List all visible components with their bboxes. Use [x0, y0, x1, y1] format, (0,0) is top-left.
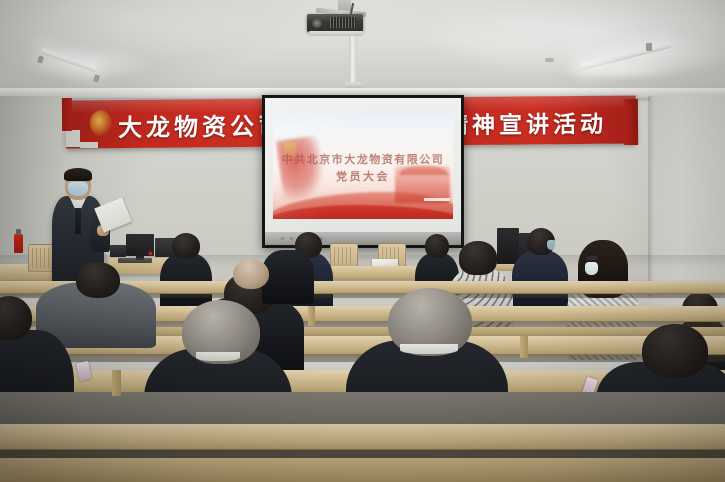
- chair-slats: [334, 247, 354, 265]
- keyboard: [118, 258, 152, 263]
- bench-divider: [520, 336, 528, 358]
- projection-screen-surface: 中共北京市大龙物资有限公司 党员大会: [265, 98, 461, 245]
- attendee-foreground-far-right-head: [642, 324, 708, 378]
- av-control-box: [110, 245, 126, 257]
- presenter-face-mask: [68, 182, 88, 196]
- attendee-foreground-center-collar: [196, 352, 240, 361]
- attendee-mid-left-head: [425, 234, 449, 258]
- status-led: [149, 252, 152, 255]
- fire-extinguisher: [14, 234, 23, 253]
- banner-notch-left: [66, 130, 80, 147]
- attendee-front-left-head: [76, 262, 120, 298]
- attendee-right-woman-glasses: [586, 256, 598, 260]
- screen-roller-pole: [349, 36, 357, 86]
- attendee-mid-right-head: [233, 259, 269, 289]
- attendee-foreground-left-phone: [76, 361, 91, 381]
- projector-vent: [330, 17, 356, 28]
- bench-divider: [308, 306, 315, 326]
- banner-fold-right: [624, 99, 638, 145]
- slide-title-line1: 中共北京市大龙物资有限公司: [273, 151, 453, 167]
- tube-cap-right: [646, 43, 652, 51]
- fire-extinguisher-valve: [16, 229, 21, 235]
- attendee-patterned-vest-head: [459, 241, 497, 275]
- front-center-table: [318, 266, 430, 280]
- attendee-back-right-mask: [547, 240, 556, 250]
- bench-divider: [112, 370, 121, 396]
- presenter-tie: [75, 208, 81, 234]
- attendee-mid-right-body: [262, 250, 314, 304]
- banner-emblem: [90, 110, 112, 136]
- bench-row-5-foreground: [0, 424, 725, 450]
- meeting-room-photo: 大龙物资公司宣 大精神宣讲活动 中共北京市大龙物资有限公司 党员大会: [0, 0, 725, 482]
- attendee-foreground-right-collar: [400, 344, 458, 354]
- chair-slats: [32, 248, 54, 268]
- bench-row-5-seat: [0, 458, 725, 482]
- projector-lens: [312, 18, 322, 28]
- projection-screen-frame: 中共北京市大龙物资有限公司 党员大会: [262, 95, 464, 248]
- attendee-right-woman-mask: [585, 262, 598, 275]
- presenter-hair: [64, 168, 92, 181]
- attendee-back-left-head: [172, 233, 200, 259]
- banner-notch-left2: [80, 142, 98, 148]
- ceiling-light-spill-right: [560, 58, 680, 80]
- ceiling-fixture-small: [545, 58, 554, 62]
- presentation-slide: 中共北京市大龙物资有限公司 党员大会: [273, 110, 453, 219]
- slide-title-line2: 党员大会: [273, 168, 453, 184]
- banner-tail-left: [62, 98, 72, 131]
- slide-highlight-bar: [424, 198, 449, 201]
